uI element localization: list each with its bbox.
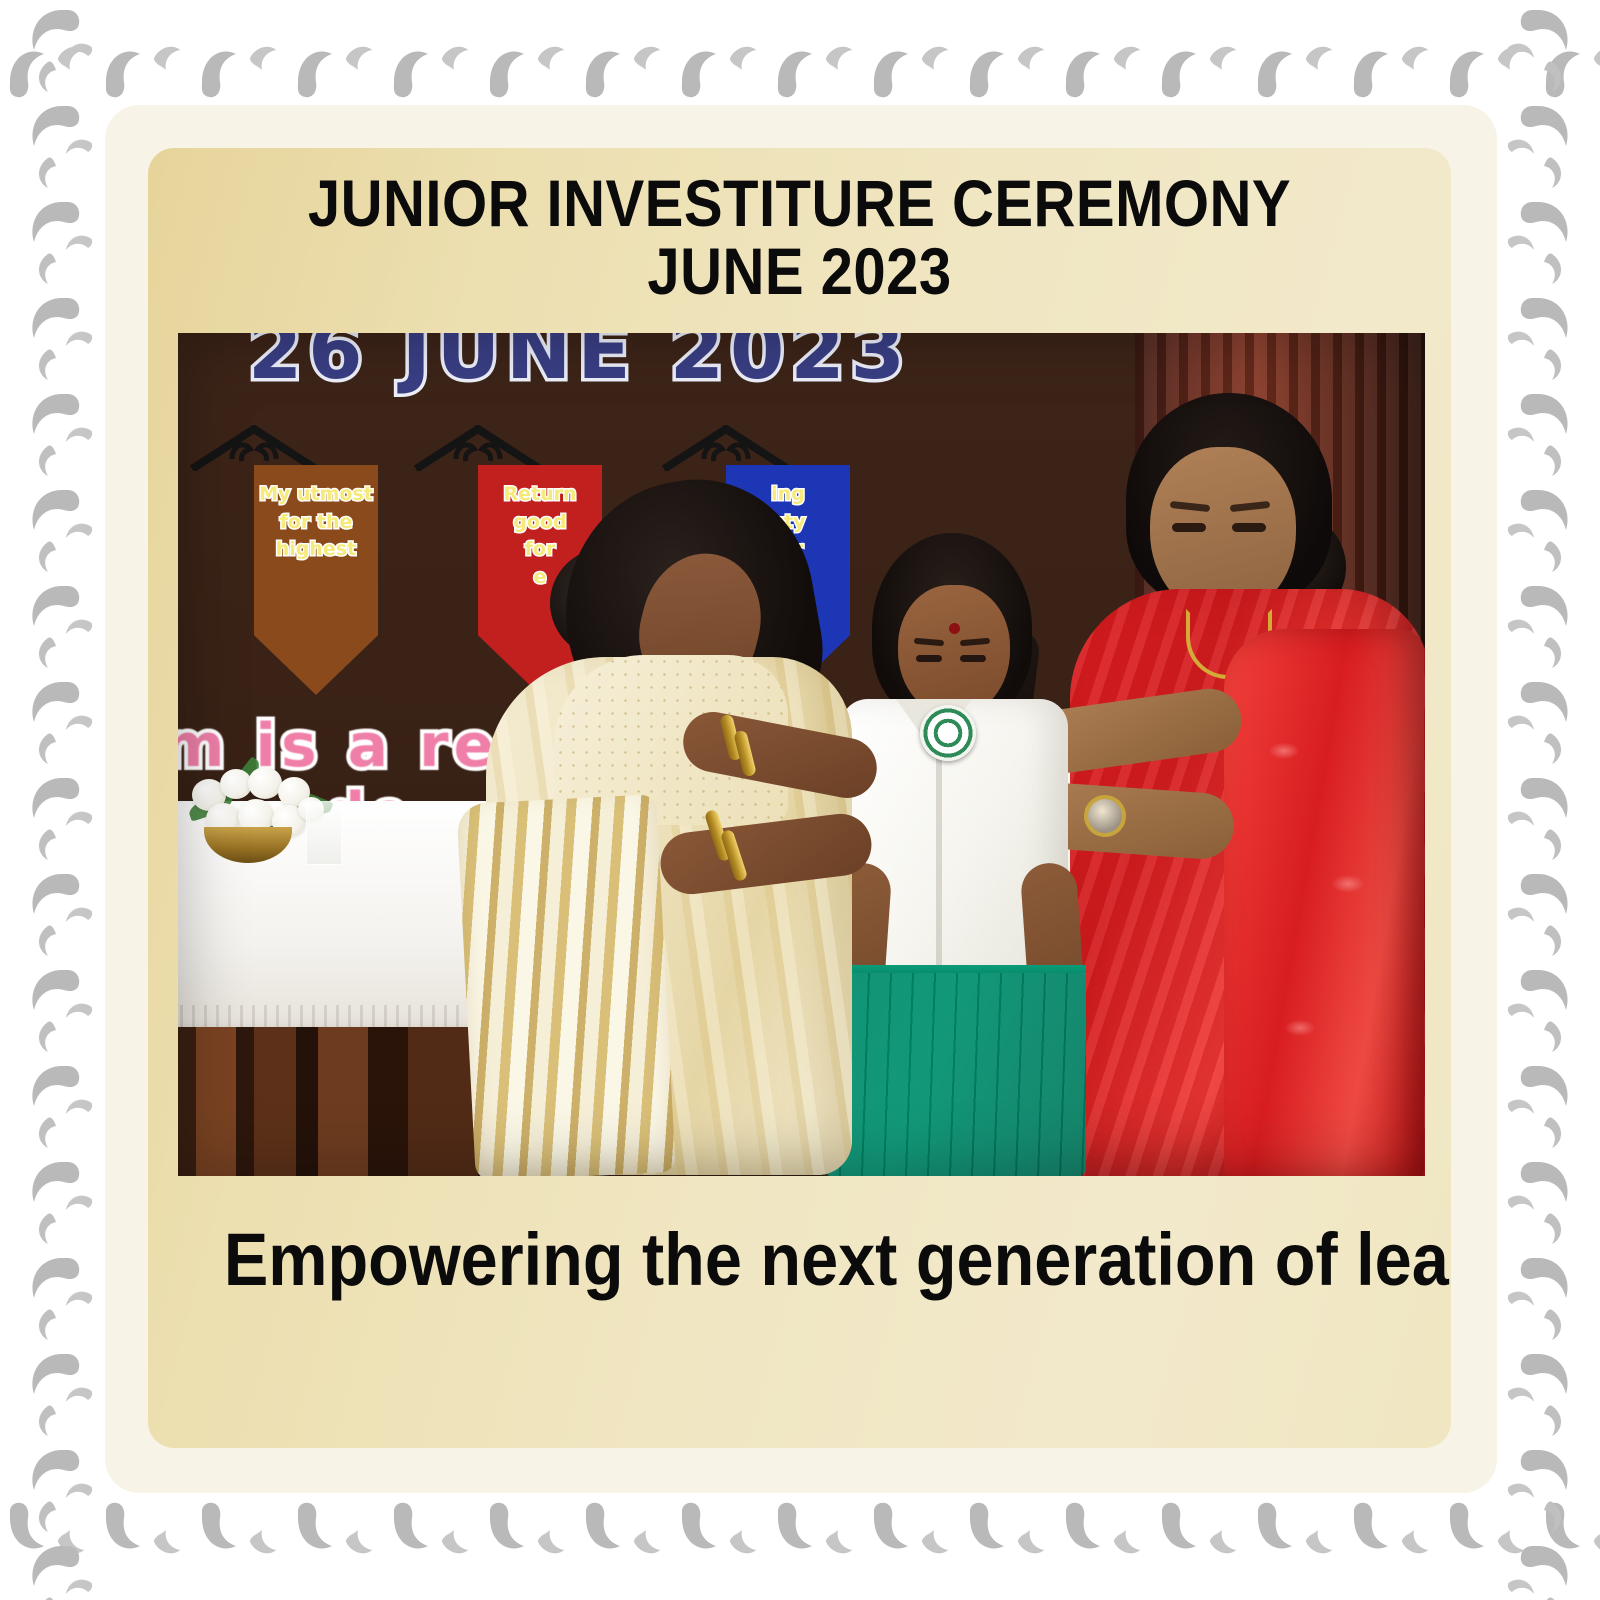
caption-text: Empowering the next generation of leader… (224, 1223, 1451, 1297)
pennant-1-text-line-3: highest (276, 536, 356, 564)
caption-block: Empowering the next generation of leader… (148, 1223, 1451, 1297)
student-eye-right (960, 655, 986, 662)
photo-scene: 26 JUNE 2023 m is a re ade My utmost for… (178, 333, 1425, 1176)
student-shirt-placket (936, 723, 942, 983)
student-eye-left (916, 655, 942, 662)
ceremony-photograph: 26 JUNE 2023 m is a re ade My utmost for… (178, 333, 1425, 1176)
teacher-red-saree-pallu (1224, 629, 1424, 1176)
card-inner-panel: JUNIOR INVESTITURE CEREMONY JUNE 2023 26… (148, 148, 1451, 1448)
title-line-2: JUNE 2023 (226, 238, 1373, 306)
prefect-badge-icon (920, 705, 976, 761)
title-line-1: JUNIOR INVESTITURE CEREMONY (226, 170, 1373, 238)
teacher-red-eye-left (1172, 523, 1206, 532)
card-outer-mat: JUNIOR INVESTITURE CEREMONY JUNE 2023 26… (105, 105, 1497, 1493)
page-title: JUNIOR INVESTITURE CEREMONY JUNE 2023 (148, 170, 1451, 306)
student-bindi (949, 623, 960, 634)
water-glass (306, 801, 342, 865)
teacher-cream-saree-drape (456, 794, 676, 1176)
pennant-1-text-line-2: for the (280, 509, 353, 537)
teacher-cream-saree (446, 429, 916, 1175)
backdrop-date-text: 26 JUNE 2023 (248, 333, 911, 397)
poster-root: JUNIOR INVESTITURE CEREMONY JUNE 2023 26… (0, 0, 1600, 1600)
teacher-red-eye-right (1232, 523, 1266, 532)
pennant-1-text-line-1: My utmost (259, 481, 373, 509)
pennant-hanger-icon (188, 425, 320, 471)
